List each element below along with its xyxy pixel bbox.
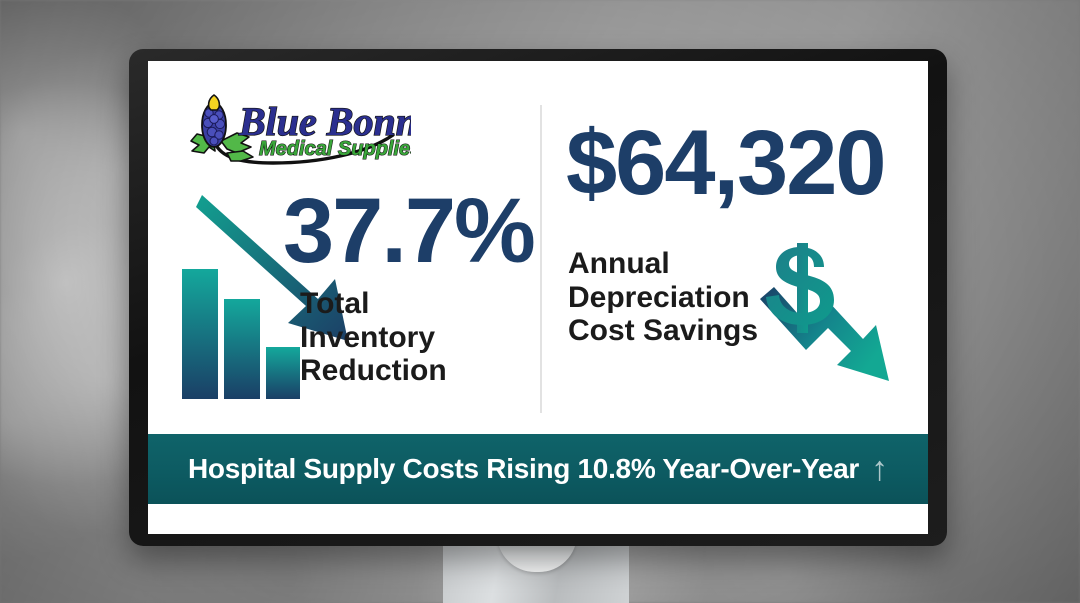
stat-card-depreciation-savings: $64,320 Annual Depreciation Cost Savings <box>544 107 928 427</box>
stat-label-inventory: Total Inventory Reduction <box>300 287 447 388</box>
monitor-screen: Blue Bonnet Medical Supplies <box>148 61 928 534</box>
stat-label-line-3: Cost Savings <box>568 314 758 348</box>
stat-card-inventory-reduction: 37.7% Total Inventory Reduction <box>158 191 536 426</box>
bottom-banner: Hospital Supply Costs Rising 10.8% Year-… <box>148 434 928 504</box>
stat-label-line-2: Depreciation <box>568 281 758 315</box>
stat-label-line-1: Annual <box>568 247 758 281</box>
banner-text: Hospital Supply Costs Rising 10.8% Year-… <box>188 453 859 485</box>
stat-value-inventory: 37.7% <box>283 185 534 277</box>
screen-bottom-strip <box>148 504 928 534</box>
stat-label-savings: Annual Depreciation Cost Savings <box>568 247 758 348</box>
dollar-declining-arrow-icon <box>758 243 893 398</box>
stat-label-line-1: Total <box>300 287 447 321</box>
monitor-bezel: Blue Bonnet Medical Supplies <box>129 49 947 546</box>
brand-logo: Blue Bonnet Medical Supplies <box>181 91 411 169</box>
stat-label-line-2: Inventory <box>300 321 447 355</box>
stat-label-line-3: Reduction <box>300 354 447 388</box>
stat-value-savings: $64,320 <box>566 117 885 209</box>
panel-divider <box>540 105 542 413</box>
stats-panel-area: Blue Bonnet Medical Supplies <box>148 61 928 434</box>
bluebonnet-flower-icon: Blue Bonnet Medical Supplies <box>181 91 411 169</box>
up-arrow-icon: ↑ <box>871 452 888 486</box>
logo-secondary-text: Medical Supplies <box>259 138 411 160</box>
